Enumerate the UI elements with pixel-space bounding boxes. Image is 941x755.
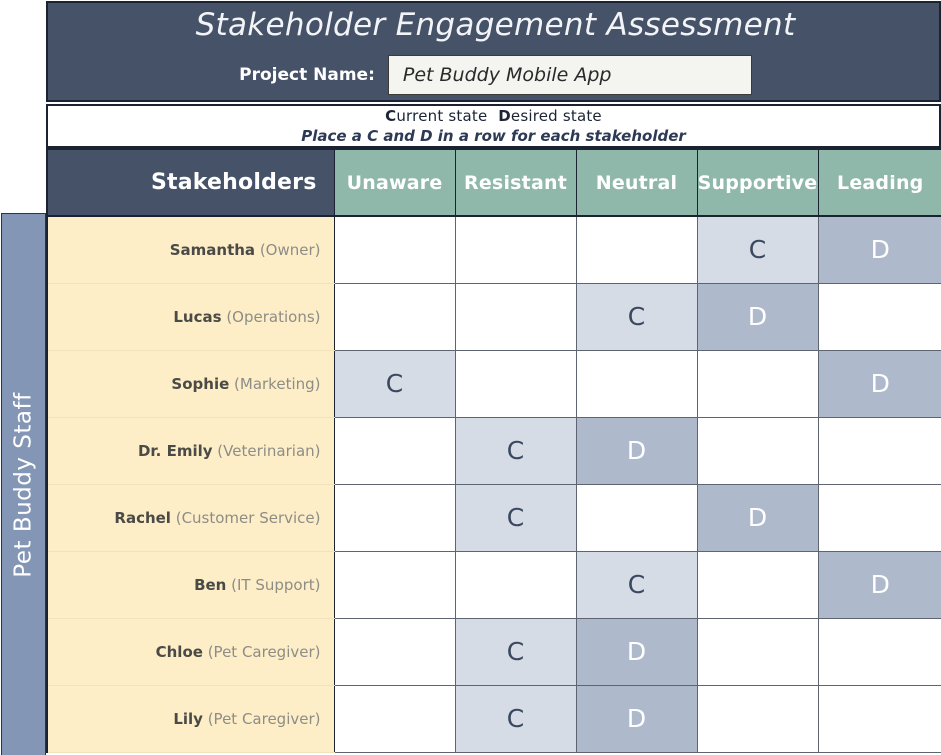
- cell-empty[interactable]: [697, 551, 818, 618]
- stakeholder-name-cell: Rachel (Customer Service): [47, 484, 334, 551]
- cell-desired-state[interactable]: D: [576, 685, 697, 752]
- cell-empty[interactable]: [334, 216, 455, 283]
- header-banner: Stakeholder Engagement Assessment Projec…: [46, 1, 941, 102]
- column-header-leading: Leading: [818, 149, 941, 216]
- cell-current-state[interactable]: C: [455, 618, 576, 685]
- cell-current-state[interactable]: C: [334, 350, 455, 417]
- table-row: Chloe (Pet Caregiver)CD: [47, 618, 941, 685]
- column-header-unaware: Unaware: [334, 149, 455, 216]
- stakeholder-name-cell: Chloe (Pet Caregiver): [47, 618, 334, 685]
- legend-d-text: esired state: [511, 107, 602, 125]
- stakeholder-role: (Pet Caregiver): [203, 643, 321, 661]
- stakeholder-role: (Customer Service): [171, 509, 321, 527]
- column-header-neutral: Neutral: [576, 149, 697, 216]
- cell-empty[interactable]: [697, 417, 818, 484]
- stakeholder-role: (Operations): [222, 308, 321, 326]
- stakeholder-name: Rachel: [114, 509, 171, 527]
- stakeholder-name: Ben: [194, 576, 226, 594]
- cell-current-state[interactable]: C: [455, 417, 576, 484]
- stakeholder-role: (Marketing): [229, 375, 320, 393]
- stakeholder-role: (IT Support): [226, 576, 320, 594]
- group-band-label: Pet Buddy Staff: [11, 392, 37, 577]
- cell-desired-state[interactable]: D: [697, 283, 818, 350]
- cell-empty[interactable]: [334, 685, 455, 752]
- stakeholder-name-cell: Dr. Emily (Veterinarian): [47, 417, 334, 484]
- cell-desired-state[interactable]: D: [576, 417, 697, 484]
- cell-desired-state[interactable]: D: [576, 618, 697, 685]
- cell-empty[interactable]: [697, 685, 818, 752]
- stakeholder-role: (Owner): [255, 241, 320, 259]
- cell-empty[interactable]: [455, 283, 576, 350]
- cell-empty[interactable]: [818, 618, 941, 685]
- cell-current-state[interactable]: C: [455, 685, 576, 752]
- stakeholder-name-cell: Lily (Pet Caregiver): [47, 685, 334, 752]
- stakeholder-name: Chloe: [156, 643, 203, 661]
- legend-instruction: Place a C and D in a row for each stakeh…: [301, 127, 686, 145]
- cell-empty[interactable]: [697, 618, 818, 685]
- table-row: Lucas (Operations)CD: [47, 283, 941, 350]
- table-row: Rachel (Customer Service)CD: [47, 484, 941, 551]
- cell-empty[interactable]: [455, 350, 576, 417]
- stakeholder-name: Sophie: [171, 375, 229, 393]
- cell-empty[interactable]: [818, 283, 941, 350]
- cell-empty[interactable]: [334, 551, 455, 618]
- project-name-input[interactable]: Pet Buddy Mobile App: [388, 55, 752, 95]
- cell-empty[interactable]: [818, 484, 941, 551]
- cell-desired-state[interactable]: D: [697, 484, 818, 551]
- stakeholder-name: Lily: [173, 710, 203, 728]
- stakeholder-name-cell: Lucas (Operations): [47, 283, 334, 350]
- table-row: Ben (IT Support)CD: [47, 551, 941, 618]
- cell-empty[interactable]: [334, 618, 455, 685]
- project-name-label: Project Name:: [239, 65, 375, 85]
- stakeholder-name-cell: Samantha (Owner): [47, 216, 334, 283]
- project-name-row: Project Name: Pet Buddy Mobile App: [48, 55, 941, 95]
- stakeholder-name: Lucas: [173, 308, 221, 326]
- cell-empty[interactable]: [334, 484, 455, 551]
- assessment-sheet: Stakeholder Engagement Assessment Projec…: [46, 0, 941, 755]
- table-header: Stakeholders Unaware Resistant Neutral S…: [47, 149, 941, 216]
- table-header-row: Stakeholders Unaware Resistant Neutral S…: [47, 149, 941, 216]
- cell-current-state[interactable]: C: [576, 551, 697, 618]
- engagement-table: Stakeholders Unaware Resistant Neutral S…: [46, 148, 941, 753]
- cell-empty[interactable]: [697, 350, 818, 417]
- assessment-page: Pet Buddy Staff Stakeholder Engagement A…: [0, 0, 941, 755]
- cell-empty[interactable]: [576, 484, 697, 551]
- table-row: Samantha (Owner)CD: [47, 216, 941, 283]
- table-row: Sophie (Marketing)CD: [47, 350, 941, 417]
- column-header-resistant: Resistant: [455, 149, 576, 216]
- cell-empty[interactable]: [818, 417, 941, 484]
- table-body: Samantha (Owner)CDLucas (Operations)CDSo…: [47, 216, 941, 752]
- stakeholder-role: (Pet Caregiver): [203, 710, 321, 728]
- cell-empty[interactable]: [334, 283, 455, 350]
- cell-empty[interactable]: [576, 216, 697, 283]
- cell-current-state[interactable]: C: [697, 216, 818, 283]
- legend-c-text: urrent state: [396, 107, 487, 125]
- legend-key-line: Current state Desired state: [385, 107, 602, 125]
- cell-current-state[interactable]: C: [455, 484, 576, 551]
- stakeholder-role: (Veterinarian): [213, 442, 321, 460]
- stakeholder-name: Dr. Emily: [138, 442, 213, 460]
- stakeholder-name-cell: Sophie (Marketing): [47, 350, 334, 417]
- cell-empty[interactable]: [576, 350, 697, 417]
- legend-d-letter: D: [498, 107, 511, 125]
- column-header-supportive: Supportive: [697, 149, 818, 216]
- page-title: Stakeholder Engagement Assessment: [48, 7, 941, 43]
- cell-current-state[interactable]: C: [576, 283, 697, 350]
- table-row: Dr. Emily (Veterinarian)CD: [47, 417, 941, 484]
- group-band-pet-buddy-staff: Pet Buddy Staff: [1, 213, 46, 755]
- table-row: Lily (Pet Caregiver)CD: [47, 685, 941, 752]
- cell-empty[interactable]: [334, 417, 455, 484]
- stakeholder-name: Samantha: [170, 241, 255, 259]
- legend-c-letter: C: [385, 107, 396, 125]
- cell-empty[interactable]: [818, 685, 941, 752]
- cell-desired-state[interactable]: D: [818, 350, 941, 417]
- cell-empty[interactable]: [455, 216, 576, 283]
- cell-desired-state[interactable]: D: [818, 216, 941, 283]
- cell-empty[interactable]: [455, 551, 576, 618]
- stakeholder-name-cell: Ben (IT Support): [47, 551, 334, 618]
- column-header-stakeholders: Stakeholders: [47, 149, 334, 216]
- cell-desired-state[interactable]: D: [818, 551, 941, 618]
- legend-block: Current state Desired state Place a C an…: [46, 104, 941, 148]
